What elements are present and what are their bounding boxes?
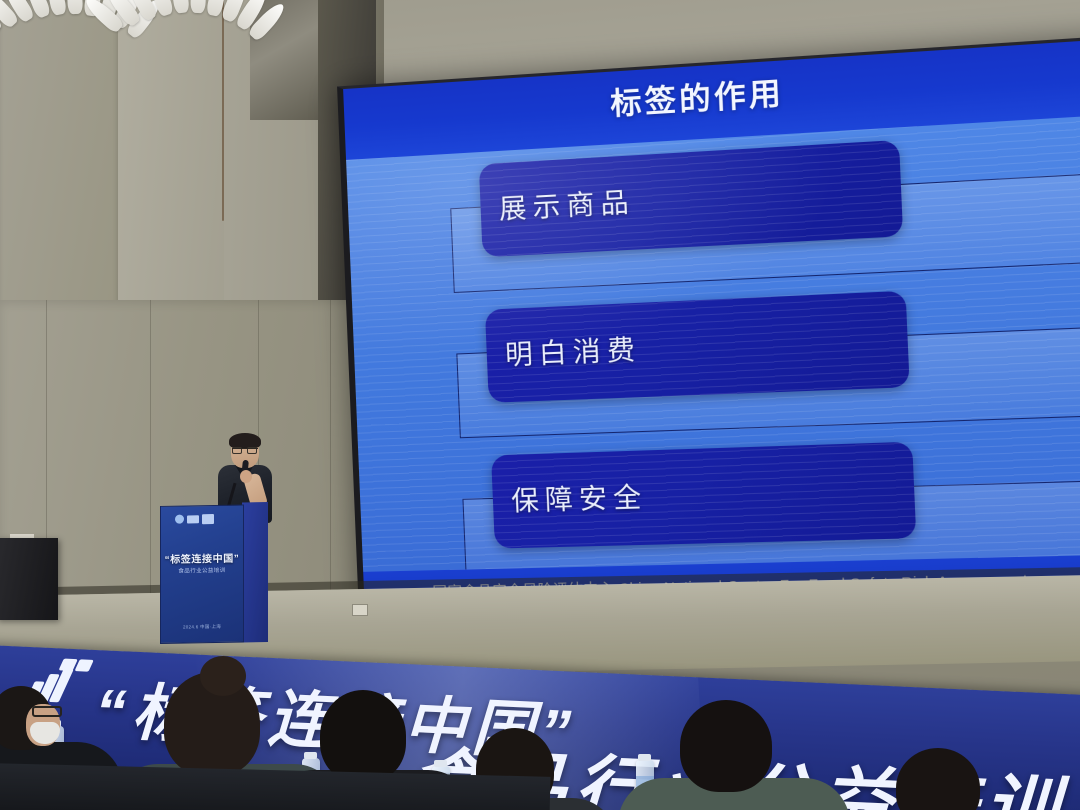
podium-logo [175, 513, 219, 525]
stage-power-outlet [352, 604, 368, 616]
podium-title: “标签连接中国” [161, 549, 243, 565]
podium-front-panel: “标签连接中国” 食品行业公益培训 2024.6 中国·上海 [160, 504, 244, 643]
presenter-glasses-bridge [232, 448, 258, 454]
podium-subtitle: 食品行业公益培训 [161, 565, 243, 574]
podium-date-line: 2024.6 中国·上海 [161, 623, 243, 630]
pa-speaker-cabinet [0, 538, 58, 620]
conference-hall-scene: 标签的作用 展示商品 明白消费 保障安全 [0, 0, 1080, 810]
podium-side-panel [242, 502, 268, 642]
podium: “标签连接中国” 食品行业公益培训 2024.6 中国·上海 [160, 504, 268, 646]
led-presentation-screen: 标签的作用 展示商品 明白消费 保障安全 [337, 35, 1080, 614]
screen-bezel [337, 35, 1080, 614]
water-bottle-cap [304, 752, 317, 759]
water-bottle-cap [638, 754, 651, 761]
presenter-hand [240, 470, 252, 483]
water-bottle-cap [434, 760, 447, 767]
